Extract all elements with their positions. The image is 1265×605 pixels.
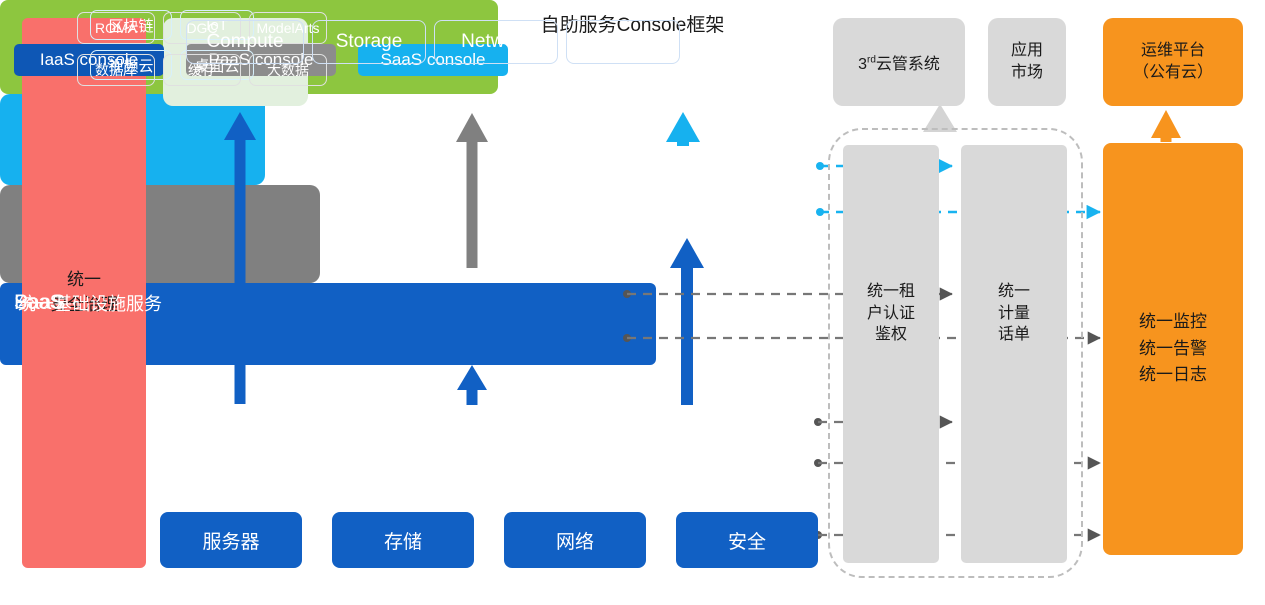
bottom-box-security[interactable]: 安全	[676, 512, 818, 568]
unified-billing-column[interactable]	[961, 145, 1067, 563]
third-party-num: 3	[858, 56, 867, 73]
arrow-infra-to-paas	[457, 365, 487, 405]
ops-platform-public-cloud-box[interactable]: 运维平台 （公有云）	[1103, 18, 1243, 106]
infra-chip-compute[interactable]: Compute	[186, 20, 304, 64]
third-party-label: 3rd云管系统	[858, 50, 940, 74]
app-market-box[interactable]: 应用 市场	[988, 18, 1066, 106]
paas-chip-database[interactable]: 数据库	[77, 54, 155, 86]
third-party-main: 云管系统	[876, 56, 940, 73]
ops-platform-label: 运维平台 （公有云）	[1133, 40, 1213, 83]
architecture-diagram: 统一 安全治理 API网关 自助服务Console框架 IaaS console…	[0, 0, 1265, 605]
infrastructure-label: 统一基础设施服务	[18, 290, 162, 316]
bottom-box-storage[interactable]: 存储	[332, 512, 474, 568]
arrow-saas-to-console	[666, 112, 700, 146]
app-market-label: 应用 市场	[1011, 40, 1043, 83]
third-party-sup: rd	[867, 55, 876, 66]
unified-billing-label: 统一 计量 话单	[961, 281, 1067, 346]
paas-chip-roma[interactable]: ROMA	[77, 12, 155, 44]
third-party-cloud-management-box[interactable]: 3rd云管系统	[833, 18, 965, 106]
unified-monitoring-panel[interactable]: 统一监控 统一告警 统一日志	[1103, 143, 1243, 555]
unified-tenant-auth-label: 统一租 户认证 鉴权	[843, 281, 939, 346]
ops-main-label: 统一监控 统一告警 统一日志	[1139, 309, 1207, 388]
bottom-box-server[interactable]: 服务器	[160, 512, 302, 568]
bottom-box-network[interactable]: 网络	[504, 512, 646, 568]
arrow-into-ops-platform	[1151, 110, 1181, 142]
arrow-paas-to-console	[456, 113, 488, 268]
infra-chip-cce[interactable]: CCE	[566, 20, 680, 64]
unified-tenant-auth-column[interactable]	[843, 145, 939, 563]
arrow-infra-to-saas	[670, 238, 704, 405]
infra-chip-storage[interactable]: Storage	[312, 20, 426, 64]
infra-chip-network[interactable]: Network	[434, 20, 558, 64]
